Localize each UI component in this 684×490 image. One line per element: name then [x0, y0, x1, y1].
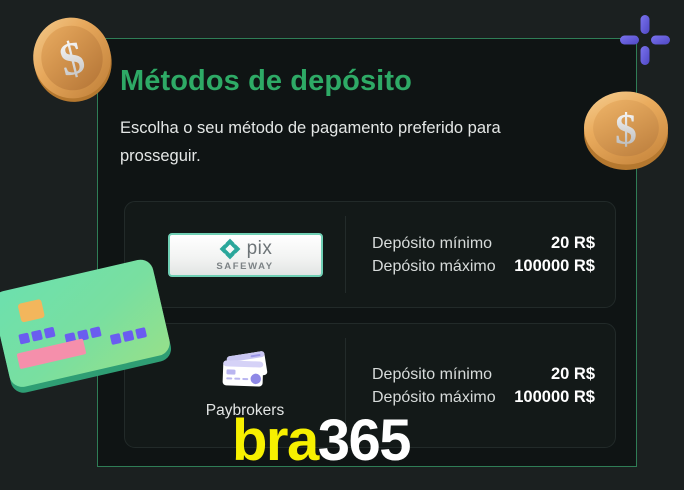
- watermark: bra365: [232, 412, 410, 470]
- pix-tagline: SAFEWAY: [216, 261, 273, 272]
- max-deposit-line: Depósito máximo 100000 R$: [372, 388, 595, 407]
- min-deposit-label: Depósito mínimo: [372, 235, 492, 253]
- page-title: Métodos de depósito: [120, 65, 412, 98]
- min-deposit-line: Depósito mínimo 20 R$: [372, 234, 595, 253]
- screen: Métodos de depósito Escolha o seu método…: [0, 0, 684, 490]
- watermark-part-b: 365: [318, 408, 410, 473]
- max-deposit-value: 100000 R$: [514, 388, 595, 407]
- gold-coin-icon-right: $: [580, 86, 672, 170]
- deposit-methods-panel: Métodos de depósito Escolha o seu método…: [97, 38, 637, 467]
- max-deposit-label: Depósito máximo: [372, 258, 496, 276]
- method-info-cell: Depósito mínimo 20 R$ Depósito máximo 10…: [346, 365, 595, 407]
- pix-logo-mark: pix: [218, 238, 273, 260]
- min-deposit-value: 20 R$: [551, 365, 595, 384]
- pix-wordmark: pix: [247, 239, 273, 258]
- min-deposit-line: Depósito mínimo 20 R$: [372, 365, 595, 384]
- max-deposit-line: Depósito máximo 100000 R$: [372, 257, 595, 276]
- purple-plus-icon: [617, 12, 673, 68]
- svg-text:$: $: [615, 106, 637, 154]
- min-deposit-value: 20 R$: [551, 234, 595, 253]
- page-subtitle: Escolha o seu método de pagamento prefer…: [120, 114, 550, 170]
- method-info-cell: Depósito mínimo 20 R$ Depósito máximo 10…: [346, 234, 595, 276]
- max-deposit-value: 100000 R$: [514, 257, 595, 276]
- pix-logo-card: pix SAFEWAY: [168, 233, 323, 277]
- watermark-part-a: bra: [232, 408, 318, 473]
- max-deposit-label: Depósito máximo: [372, 389, 496, 407]
- min-deposit-label: Depósito mínimo: [372, 366, 492, 384]
- pix-diamond-icon: [218, 237, 242, 261]
- method-row[interactable]: pix SAFEWAY Depósito mínimo 20 R$ Depósi…: [124, 201, 616, 308]
- method-logo-cell: pix SAFEWAY: [145, 233, 345, 277]
- credit-cards-icon: [215, 351, 275, 393]
